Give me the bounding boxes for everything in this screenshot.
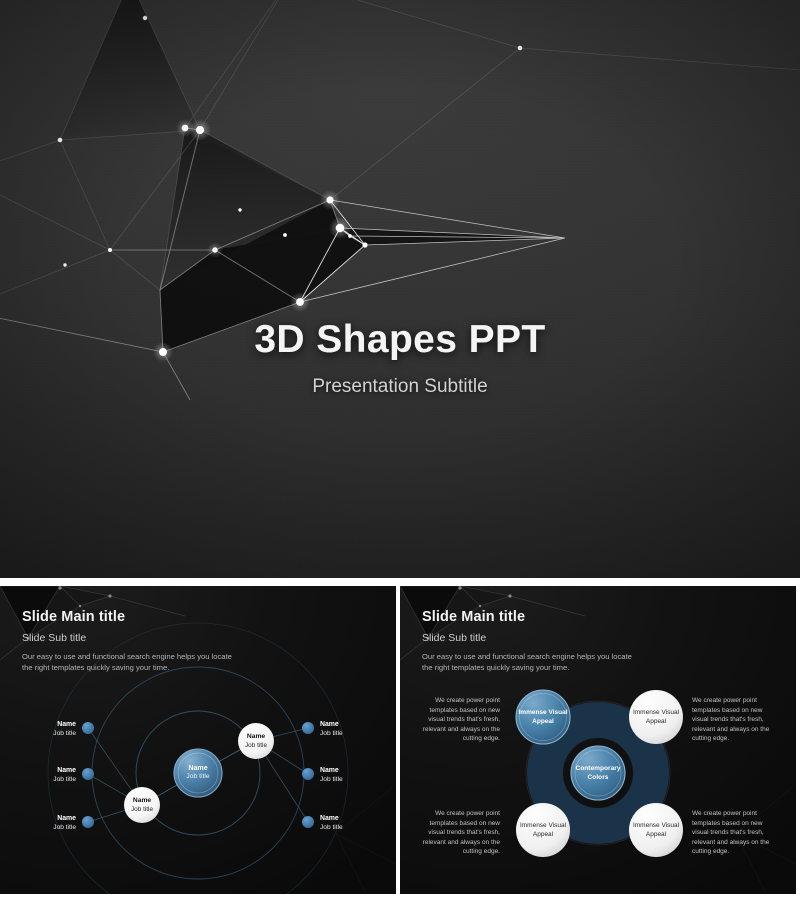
slide-thumbnail-ring[interactable]: Slide Main title Slide Sub title Our eas… <box>400 586 796 894</box>
orbit-outer-node-0[interactable]: Name Job title <box>16 721 76 739</box>
slide-body-text: Our easy to use and functional search en… <box>22 651 237 673</box>
orbit-outer-node-4[interactable]: Name Job title <box>320 767 343 785</box>
slide-main-title: Slide Main title <box>422 609 772 625</box>
orbit-outer-node-2[interactable]: Name Job title <box>16 815 76 833</box>
ring-caption-1: We create power point templates based on… <box>692 696 770 744</box>
orbit-outer-node-1[interactable]: Name Job title <box>16 767 76 785</box>
ring-caption-0: We create power point templates based on… <box>422 696 500 744</box>
hero-slide: 3D Shapes PPT Presentation Subtitle <box>0 0 800 578</box>
slide-header: Slide Main title Slide Sub title Our eas… <box>422 609 772 673</box>
slide-header: Slide Main title Slide Sub title Our eas… <box>22 609 372 673</box>
presentation-preview-page: 3D Shapes PPT Presentation Subtitle <box>0 0 800 900</box>
slide-thumbnail-row: Slide Main title Slide Sub title Our eas… <box>0 586 800 900</box>
slide-main-title: Slide Main title <box>22 609 372 625</box>
page-title: 3D Shapes PPT <box>0 318 800 362</box>
slide-sub-title: Slide Sub title <box>422 632 772 644</box>
orbit-outer-node-5[interactable]: Name Job title <box>320 815 343 833</box>
ring-caption-3: We create power point templates based on… <box>692 809 770 857</box>
low-poly-network-mesh <box>0 0 800 578</box>
orbit-outer-node-3[interactable]: Name Job title <box>320 721 343 739</box>
slide-body-text: Our easy to use and functional search en… <box>422 651 637 673</box>
slide-thumbnail-orbit[interactable]: Slide Main title Slide Sub title Our eas… <box>0 586 396 894</box>
hero-text-block: 3D Shapes PPT Presentation Subtitle <box>0 318 800 398</box>
ring-caption-2: We create power point templates based on… <box>422 809 500 857</box>
slide-sub-title: Slide Sub title <box>22 632 372 644</box>
page-subtitle: Presentation Subtitle <box>0 376 800 398</box>
